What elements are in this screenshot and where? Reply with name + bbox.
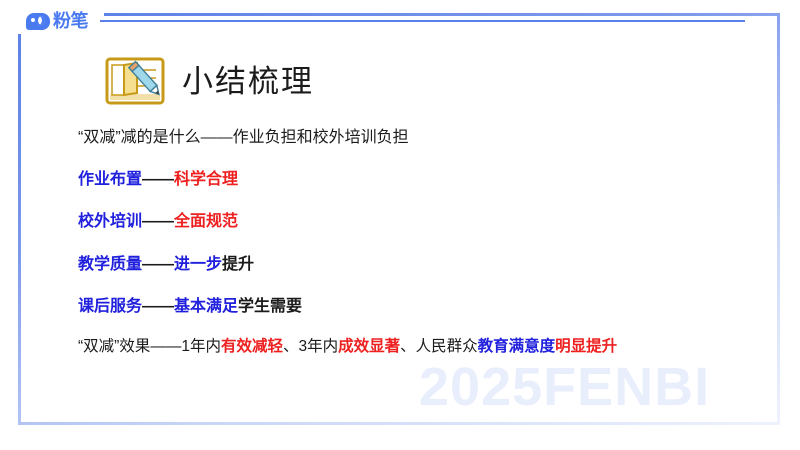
- text-segment: ——: [142, 171, 174, 188]
- text-segment: 、人民群众: [400, 338, 478, 355]
- slide-header: 粉笔: [26, 8, 745, 34]
- summary-line-teaching-quality: 教学质量——进一步提升: [78, 255, 778, 274]
- text-segment: 提升: [222, 256, 254, 273]
- watermark-text: 2025FENBI: [419, 360, 710, 414]
- summary-line-effect: “双减”效果——1年内有效减轻、3年内成效显著、人民群众教育满意度明显提升: [78, 338, 778, 357]
- text-segment: 有效减轻: [221, 338, 283, 355]
- text-segment: ——: [142, 213, 174, 230]
- summary-line-question: “双减”减的是什么——作业负担和校外培训负担: [78, 128, 778, 147]
- text-segment: ——: [142, 256, 174, 273]
- text-segment: 校外培训: [78, 213, 142, 230]
- text-segment: 进一步: [174, 256, 222, 273]
- text-segment: 、3年内: [283, 338, 338, 355]
- page-title-row: 小结梳理: [104, 56, 314, 106]
- header-divider-line: [100, 20, 745, 22]
- text-segment: “双减”效果——1年内: [78, 338, 221, 355]
- text-segment: 成效显著: [338, 338, 400, 355]
- slide-canvas: 粉笔: [0, 0, 800, 450]
- text-segment: 教育满意度: [478, 338, 556, 355]
- brand-logo-text: 粉笔: [53, 12, 88, 30]
- text-segment: 作业布置: [78, 171, 142, 188]
- text-segment: ——: [142, 298, 174, 315]
- text-segment: 明显提升: [555, 338, 617, 355]
- summary-line-offcampus-training: 校外培训——全面规范: [78, 212, 778, 231]
- text-segment: 全面规范: [174, 213, 238, 230]
- text-segment: 教学质量: [78, 256, 142, 273]
- page-title: 小结梳理: [182, 66, 314, 97]
- text-segment: 科学合理: [174, 171, 238, 188]
- text-segment: 基本满足: [174, 298, 238, 315]
- fb-logo-mark-icon: [26, 13, 50, 30]
- summary-content: “双减”减的是什么——作业负担和校外培训负担 作业布置——科学合理 校外培训——…: [78, 128, 778, 357]
- text-segment: 学生需要: [238, 298, 302, 315]
- summary-line-afterschool-service: 课后服务——基本满足学生需要: [78, 297, 778, 316]
- text-segment: “双减”减的是什么——作业负担和校外培训负担: [78, 129, 409, 146]
- brand-logo: 粉笔: [26, 12, 98, 30]
- notebook-pencil-icon: [104, 56, 166, 106]
- text-segment: 课后服务: [78, 298, 142, 315]
- summary-line-homework: 作业布置——科学合理: [78, 170, 778, 189]
